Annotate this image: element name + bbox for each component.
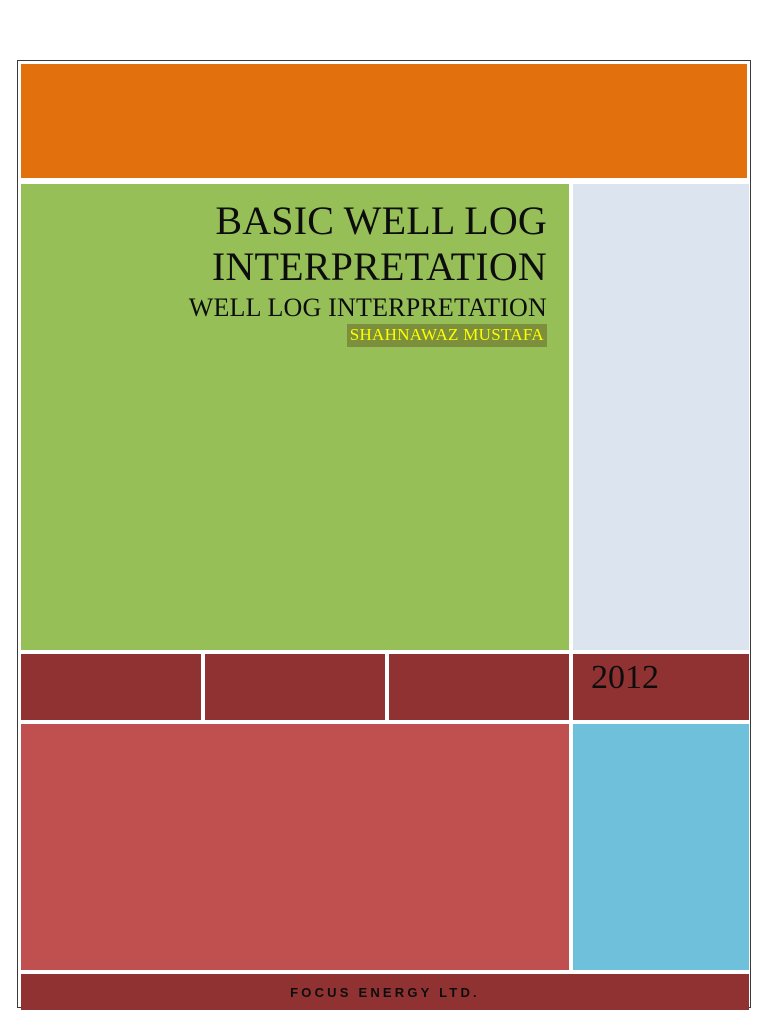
mid-band-cell-1 — [21, 654, 201, 720]
author-name: SHAHNAWAZ MUSTAFA — [347, 324, 547, 347]
page-subtitle: WELL LOG INTERPRETATION — [37, 293, 547, 322]
publication-year: 2012 — [591, 659, 749, 696]
side-accent-panel — [573, 184, 749, 650]
title-panel: BASIC WELL LOG INTERPRETATION WELL LOG I… — [21, 184, 569, 650]
author-line: SHAHNAWAZ MUSTAFA — [37, 324, 547, 347]
footer-band: FOCUS ENERGY LTD. — [21, 974, 749, 1010]
cover-page-inner: BASIC WELL LOG INTERPRETATION WELL LOG I… — [21, 64, 747, 1004]
year-cell: 2012 — [573, 654, 749, 720]
company-name: FOCUS ENERGY LTD. — [290, 985, 480, 1000]
lower-accent-panel — [573, 724, 749, 970]
mid-band-cell-2 — [205, 654, 385, 720]
title-text-group: BASIC WELL LOG INTERPRETATION WELL LOG I… — [37, 198, 547, 347]
cover-page: BASIC WELL LOG INTERPRETATION WELL LOG I… — [17, 60, 751, 1008]
page-title: BASIC WELL LOG INTERPRETATION — [37, 198, 547, 291]
mid-band-cell-3 — [389, 654, 569, 720]
header-orange-band — [21, 64, 747, 178]
abstract-panel — [21, 724, 569, 970]
